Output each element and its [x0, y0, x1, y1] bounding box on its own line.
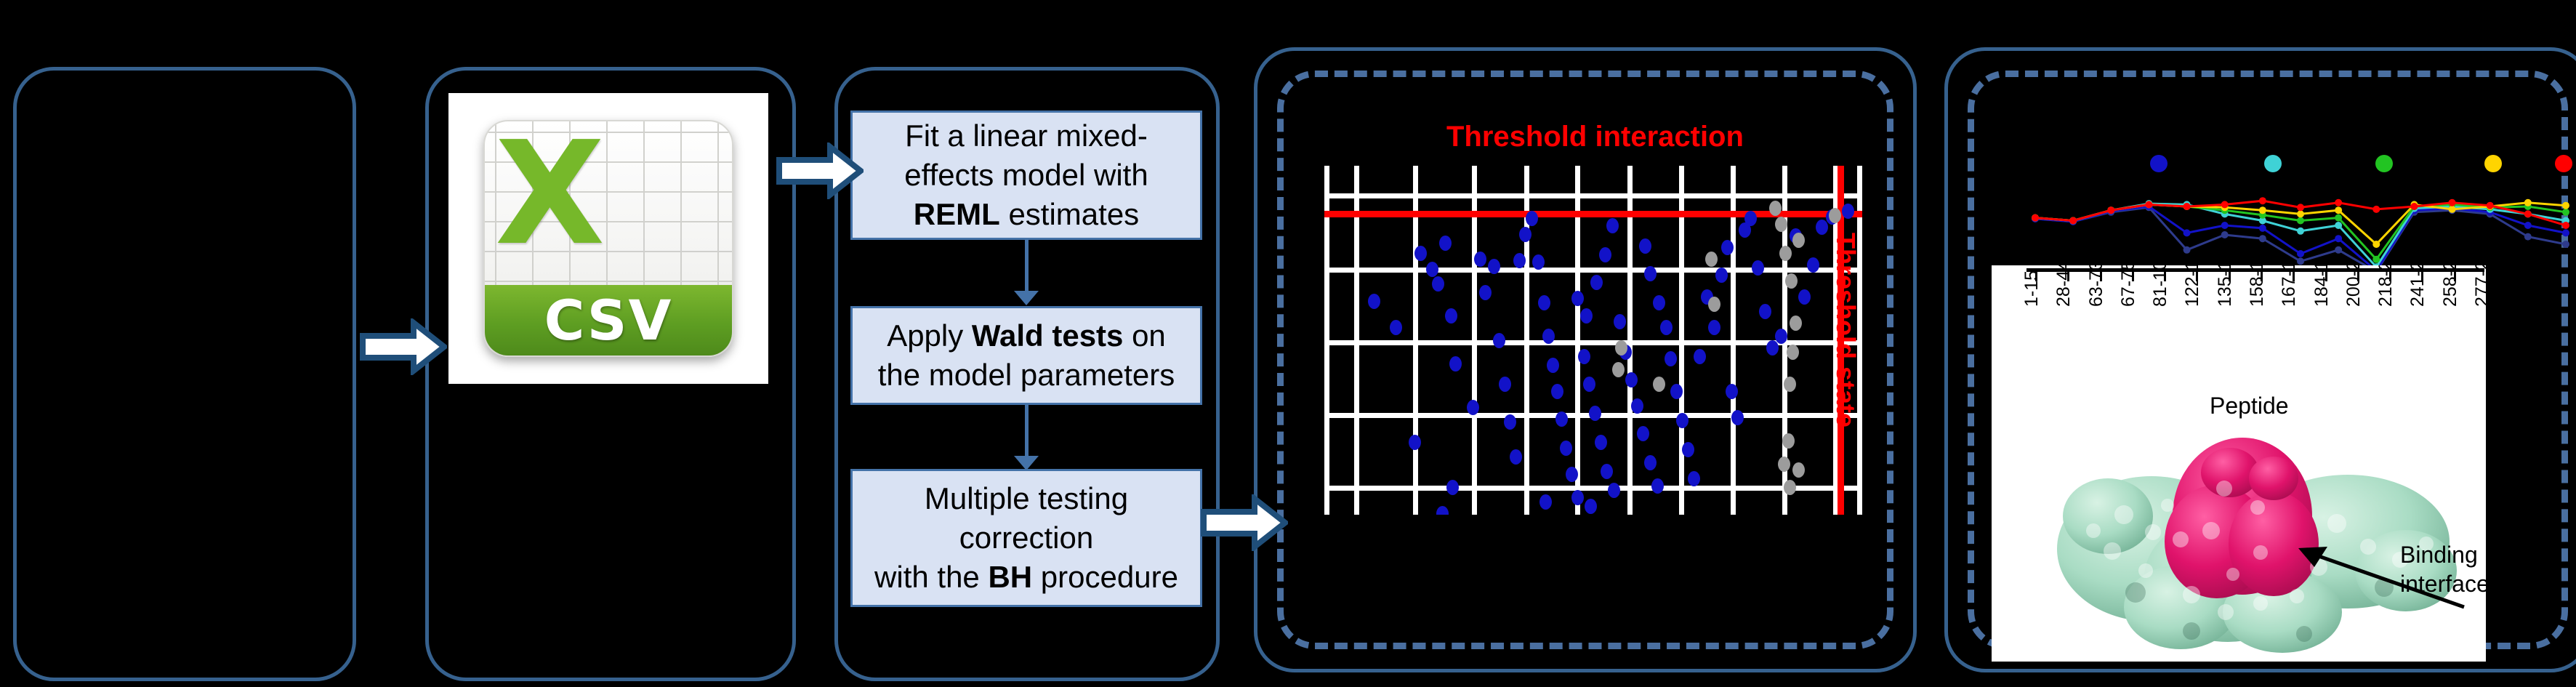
scatter-point [1766, 340, 1779, 355]
scatter-point [1390, 320, 1402, 335]
x-axis-tick-label: 1-15 [2021, 270, 2042, 307]
wald-line-2: the model parameters [878, 358, 1175, 392]
scatter-point [1715, 268, 1728, 283]
connector-wald-to-bh [1025, 405, 1029, 462]
scatter-point [1445, 308, 1457, 324]
scatter-point [1705, 252, 1718, 267]
scatter-point [1426, 262, 1438, 277]
scatter-point [1560, 441, 1572, 456]
scatter-point [1589, 406, 1601, 421]
x-axis-tick-label: 28-44 [2053, 265, 2074, 307]
connector-arrowhead-2 [1014, 456, 1039, 470]
scatter-plot-area [1324, 166, 1862, 515]
scatter-point [1595, 435, 1607, 450]
binding-interface-annotation: Binding interface [2400, 540, 2486, 598]
scatter-point [1682, 442, 1694, 457]
scatter-point [1842, 204, 1854, 219]
scatter-point [1651, 478, 1664, 494]
x-axis-tick-label: 277-284 [2472, 265, 2486, 307]
bh-trail: procedure [1032, 560, 1178, 594]
scatter-point [1446, 480, 1459, 495]
scatter-point [1519, 227, 1531, 242]
x-axis-tick-label: 63-73 [2086, 265, 2107, 307]
scatter-point [1555, 411, 1568, 427]
scatter-point [1585, 499, 1597, 514]
bh-line-1: Multiple testing [925, 481, 1128, 515]
x-axis-title: Peptide [2210, 393, 2289, 419]
connector-reml-to-wald [1025, 240, 1029, 297]
scatter-point [1566, 467, 1578, 482]
scatter-figure: Threshold interaction [1308, 116, 1868, 523]
x-axis-tick-label: 258-266 [2440, 265, 2461, 307]
process-box-wald[interactable]: Apply Wald tests on the model parameters [850, 306, 1202, 405]
diagram-canvas: X CSV Fit a linear mixed- effects model … [0, 0, 2576, 687]
scatter-point [1432, 276, 1444, 292]
scatter-point [1614, 314, 1626, 329]
legend-dot-1 [2150, 155, 2168, 172]
scatter-point [1670, 384, 1683, 399]
scatter-point [1532, 254, 1545, 270]
scatter-point [1721, 240, 1734, 255]
scatter-point [1778, 457, 1790, 472]
scatter-point [1599, 247, 1611, 262]
scatter-point [1790, 316, 1802, 331]
legend-dot-5 [2555, 155, 2572, 172]
scatter-point [1571, 291, 1584, 306]
x-axis-tick-label: 200-214 [2343, 265, 2364, 307]
scatter-point [1601, 464, 1613, 479]
legend-dot-4 [2484, 155, 2502, 172]
gridline-h [1324, 193, 1862, 198]
gridline-h [1324, 268, 1862, 273]
scatter-point [1829, 208, 1841, 223]
reml-line-3: estimates [1000, 197, 1139, 231]
process-box-bh[interactable]: Multiple testing correction with the BH … [850, 469, 1202, 607]
scatter-point [1644, 455, 1657, 470]
scatter-point [1474, 252, 1486, 267]
scatter-point [1547, 358, 1559, 373]
scatter-point [1708, 320, 1720, 335]
csv-file-card: X CSV [448, 93, 768, 384]
scatter-point [1665, 351, 1677, 366]
scatter-point [1807, 257, 1819, 273]
binding-line-2: interface [2400, 571, 2486, 597]
scatter-point [1688, 471, 1700, 486]
scatter-point [1615, 340, 1627, 355]
wald-trail: on [1123, 318, 1165, 353]
scatter-point [1488, 259, 1500, 274]
scatter-point [1583, 377, 1595, 392]
scatter-threshold-state-label: Threshold state [1830, 233, 1861, 427]
csv-icon: X CSV [483, 120, 733, 357]
scatter-point [1792, 462, 1805, 478]
scatter-point [1608, 483, 1620, 498]
scatter-point [1542, 329, 1555, 344]
scatter-point [1606, 218, 1619, 233]
scatter-point [1510, 449, 1522, 465]
scatter-point [1631, 398, 1643, 414]
x-axis-tick-label: 218-237 [2375, 265, 2396, 307]
scatter-point [1798, 289, 1811, 305]
scatter-point [1676, 413, 1689, 428]
connector-arrowhead-1 [1014, 291, 1039, 305]
scatter-point [1759, 304, 1771, 319]
scatter-point [1787, 345, 1799, 360]
csv-label: CSV [544, 288, 673, 353]
scatter-point [1726, 384, 1738, 399]
scatter-point [1590, 275, 1603, 290]
scatter-point [1578, 349, 1590, 364]
process-box-wald-text: Apply Wald tests on the model parameters [878, 316, 1175, 395]
scatter-point [1504, 414, 1516, 430]
scatter-point [1752, 260, 1764, 276]
scatter-point [1551, 384, 1563, 399]
reml-line-1: Fit a linear mixed- [905, 118, 1148, 153]
scatter-title: Threshold interaction [1446, 121, 1744, 153]
peptide-figure-lower: 0.0 1-1528-4463-7367-7581-101122-129135-… [1992, 265, 2486, 662]
gridline-h [1324, 486, 1862, 491]
flow-arrow-2[interactable] [776, 142, 864, 199]
scatter-point [1526, 211, 1538, 226]
scatter-point [1637, 426, 1649, 441]
scatter-point [1409, 435, 1421, 450]
scatter-point [1660, 320, 1673, 335]
wald-lead: Apply [887, 318, 972, 353]
x-axis-tick-label: 81-101 [2150, 265, 2171, 307]
x-axis-tick-label: 67-75 [2118, 265, 2139, 307]
bh-keyword: BH [988, 560, 1032, 594]
scatter-point [1731, 410, 1744, 425]
csv-label-band: CSV [485, 285, 732, 355]
peptide-figure: 0.0 1-1528-4463-7367-7581-101122-129135-… [1992, 109, 2573, 662]
bh-lead: with the [874, 560, 988, 594]
scatter-point [1436, 506, 1449, 515]
scatter-point [1784, 377, 1796, 392]
scatter-point [1538, 295, 1550, 310]
x-axis-tick-label: 241-257 [2407, 265, 2428, 307]
scatter-point [1785, 273, 1798, 289]
scatter-point [1368, 294, 1380, 309]
scatter-point [1499, 377, 1511, 392]
scatter-point [1769, 201, 1782, 216]
scatter-point [1784, 480, 1796, 495]
reml-keyword: REML [914, 197, 1000, 231]
scatter-point [1439, 236, 1452, 251]
scatter-point [1479, 285, 1492, 300]
scatter-point [1539, 494, 1552, 510]
peptide-line-chart [1992, 109, 2573, 276]
legend-dot-2 [2264, 155, 2282, 172]
wald-keyword: Wald tests [972, 318, 1123, 353]
scatter-point [1775, 329, 1787, 344]
scatter-point [1493, 333, 1505, 348]
scatter-point [1653, 377, 1665, 392]
reml-line-2: effects model with [904, 158, 1148, 192]
x-axis-tick-label: 184-199 [2311, 265, 2333, 307]
protein-structure-image [2042, 422, 2479, 654]
scatter-point [1775, 217, 1787, 232]
scatter-point [1639, 238, 1651, 254]
excel-x-icon: X [495, 123, 605, 265]
scatter-point [1779, 246, 1792, 261]
process-box-reml[interactable]: Fit a linear mixed- effects model with R… [850, 111, 1202, 240]
scatter-point [1644, 266, 1657, 281]
x-axis-tick-label: 167-180 [2279, 265, 2300, 307]
scatter-point [1744, 211, 1757, 226]
scatter-point [1612, 362, 1625, 377]
flow-arrow-1[interactable] [360, 318, 447, 375]
scatter-point [1625, 372, 1638, 387]
scatter-point [1513, 253, 1526, 268]
scatter-point [1792, 233, 1805, 248]
scatter-point [1782, 433, 1795, 449]
x-axis-tick-label: 135-144 [2215, 265, 2236, 307]
process-box-reml-text: Fit a linear mixed- effects model with R… [904, 116, 1148, 234]
scatter-point [1414, 246, 1427, 261]
scatter-point [1708, 297, 1720, 312]
scatter-point [1467, 400, 1479, 415]
panel-data-collection[interactable] [13, 67, 356, 681]
legend-dot-3 [2375, 155, 2393, 172]
scatter-point [1580, 308, 1593, 324]
process-box-bh-text: Multiple testing correction with the BH … [874, 479, 1178, 597]
scatter-point [1449, 356, 1462, 371]
x-axis-tick-label: 158-166 [2247, 265, 2268, 307]
bh-line-2: correction [959, 521, 1093, 555]
scatter-point [1653, 295, 1665, 310]
x-axis-tick-label: 122-129 [2182, 265, 2203, 307]
scatter-point [1571, 490, 1584, 505]
binding-line-1: Binding [2400, 542, 2478, 568]
scatter-point [1816, 220, 1828, 235]
scatter-point [1694, 349, 1706, 364]
flow-arrow-3[interactable] [1201, 494, 1288, 551]
